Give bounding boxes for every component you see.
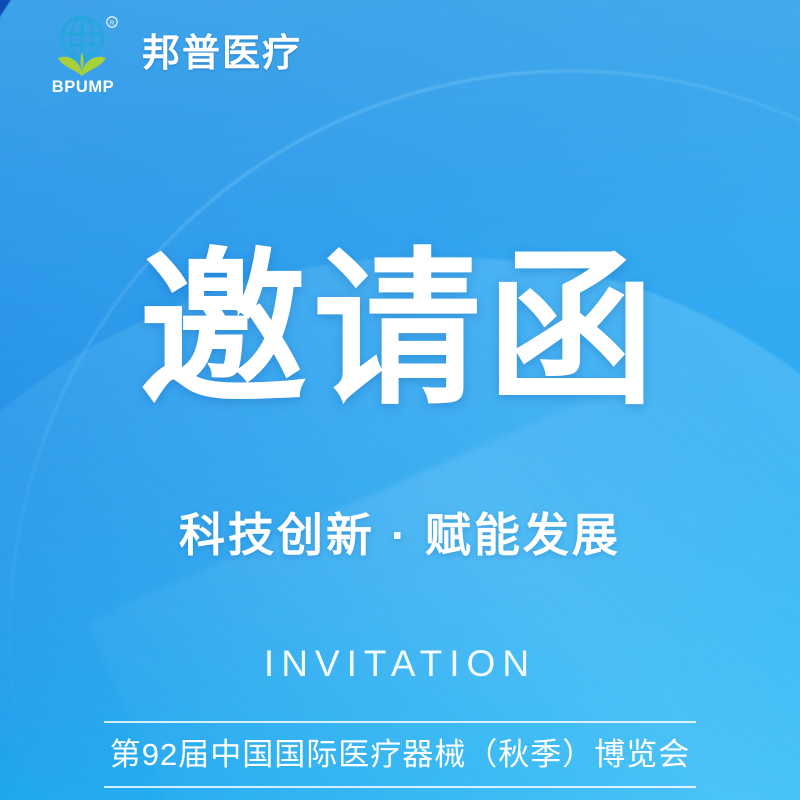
event-name: 第92届中国国际医疗器械（秋季）博览会 bbox=[104, 737, 696, 774]
divider-bottom bbox=[104, 786, 696, 788]
footer-block: 第92届中国国际医疗器械（秋季）博览会 bbox=[104, 721, 696, 788]
invitation-poster: R BPUMP 邦普医疗 邀请函 科技创新 · 赋能发展 INVITATION … bbox=[0, 0, 800, 800]
page-title: 邀请函 bbox=[0, 246, 800, 414]
brand-header: R BPUMP 邦普医疗 bbox=[46, 14, 302, 94]
brand-name: 邦普医疗 bbox=[142, 35, 302, 73]
slogan: 科技创新 · 赋能发展 bbox=[0, 508, 800, 563]
svg-text:R: R bbox=[110, 20, 115, 27]
logo-wordmark: BPUMP bbox=[52, 78, 115, 94]
bpump-circle-leaf-logo: R BPUMP bbox=[46, 14, 124, 94]
english-title: INVITATION bbox=[0, 645, 800, 682]
divider-top bbox=[104, 721, 696, 723]
